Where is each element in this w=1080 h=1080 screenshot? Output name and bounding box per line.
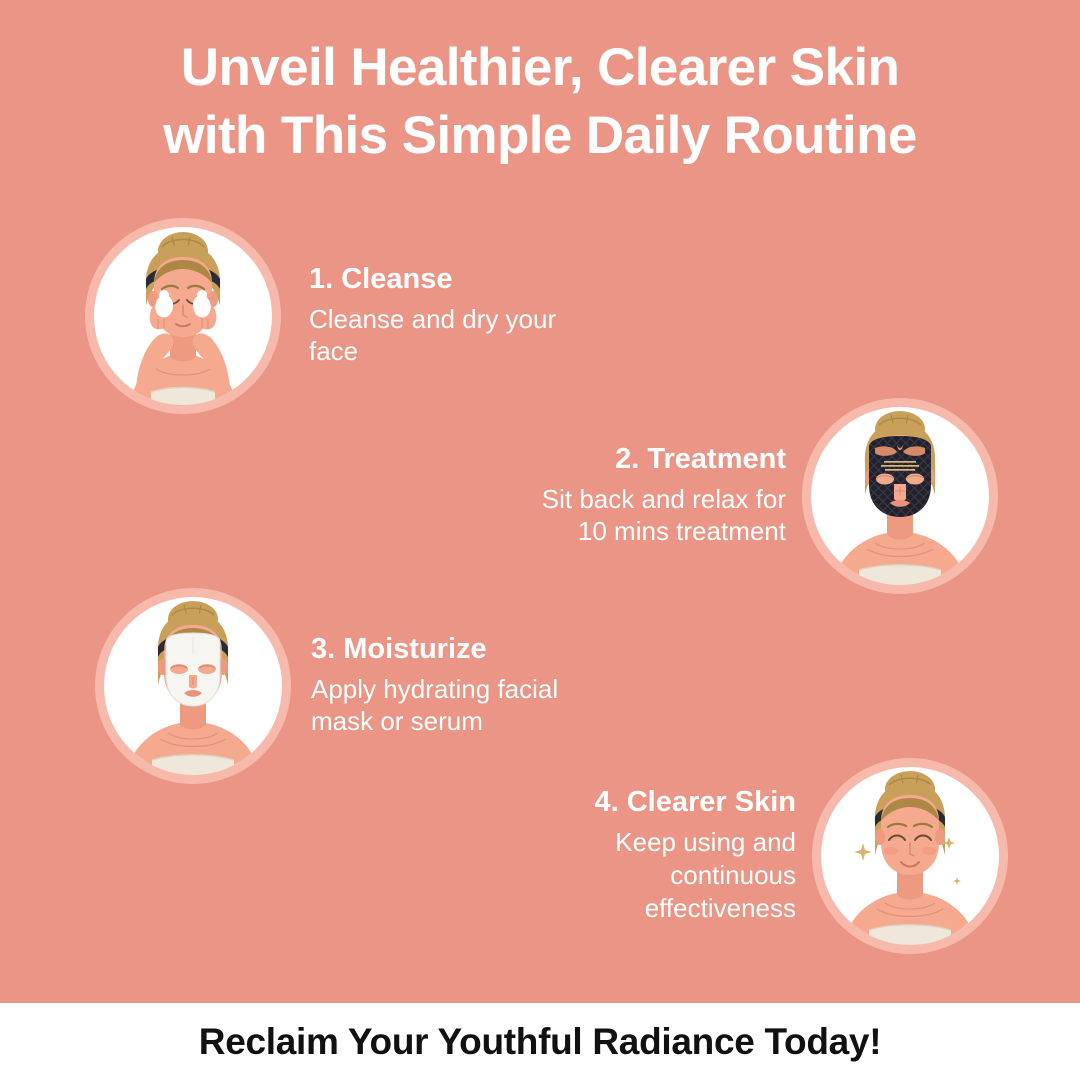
step-item-moisturize: 3. Moisturize Apply hydrating facial mas… [95, 588, 573, 784]
step-1-text-block: 1. Cleanse Cleanse and dry your face [309, 264, 571, 368]
step-3-text-block: 3. Moisturize Apply hydrating facial mas… [311, 634, 573, 738]
step-item-clearer-skin: 4. Clearer Skin Keep using and continuou… [534, 758, 1008, 954]
step-item-cleanse: 1. Cleanse Cleanse and dry your face [85, 218, 571, 414]
woman-clear-glowing-skin-illustration [821, 767, 999, 945]
step-4-image-circle [812, 758, 1008, 954]
step-2-image-circle [802, 398, 998, 594]
step-4-title: 4. Clearer Skin [534, 787, 796, 819]
title-line-1: Unveil Healthier, Clearer Skin [0, 34, 1080, 102]
step-1-image-circle [85, 218, 281, 414]
title-line-2: with This Simple Daily Routine [0, 102, 1080, 170]
step-2-body: Sit back and relax for 10 mins treatment [524, 483, 786, 549]
step-2-text-block: 2. Treatment Sit back and relax for 10 m… [524, 444, 786, 548]
step-item-treatment: 2. Treatment Sit back and relax for 10 m… [524, 398, 998, 594]
skincare-routine-infographic: Unveil Healthier, Clearer Skin with This… [0, 0, 1080, 1080]
step-1-body: Cleanse and dry your face [309, 303, 571, 369]
footer-cta-text: Reclaim Your Youthful Radiance Today! [199, 1021, 881, 1063]
step-3-body: Apply hydrating facial mask or serum [311, 673, 573, 739]
footer-banner: Reclaim Your Youthful Radiance Today! [0, 1003, 1080, 1080]
woman-white-sheet-mask-illustration [104, 597, 282, 775]
step-3-title: 3. Moisturize [311, 634, 573, 666]
step-3-image-circle [95, 588, 291, 784]
step-4-body: Keep using and continuous effectiveness [534, 826, 796, 924]
step-4-text-block: 4. Clearer Skin Keep using and continuou… [534, 787, 796, 924]
step-1-title: 1. Cleanse [309, 264, 571, 296]
page-title: Unveil Healthier, Clearer Skin with This… [0, 34, 1080, 170]
woman-washing-face-illustration [94, 227, 272, 405]
step-2-title: 2. Treatment [524, 444, 786, 476]
woman-black-sheet-mask-illustration [811, 407, 989, 585]
